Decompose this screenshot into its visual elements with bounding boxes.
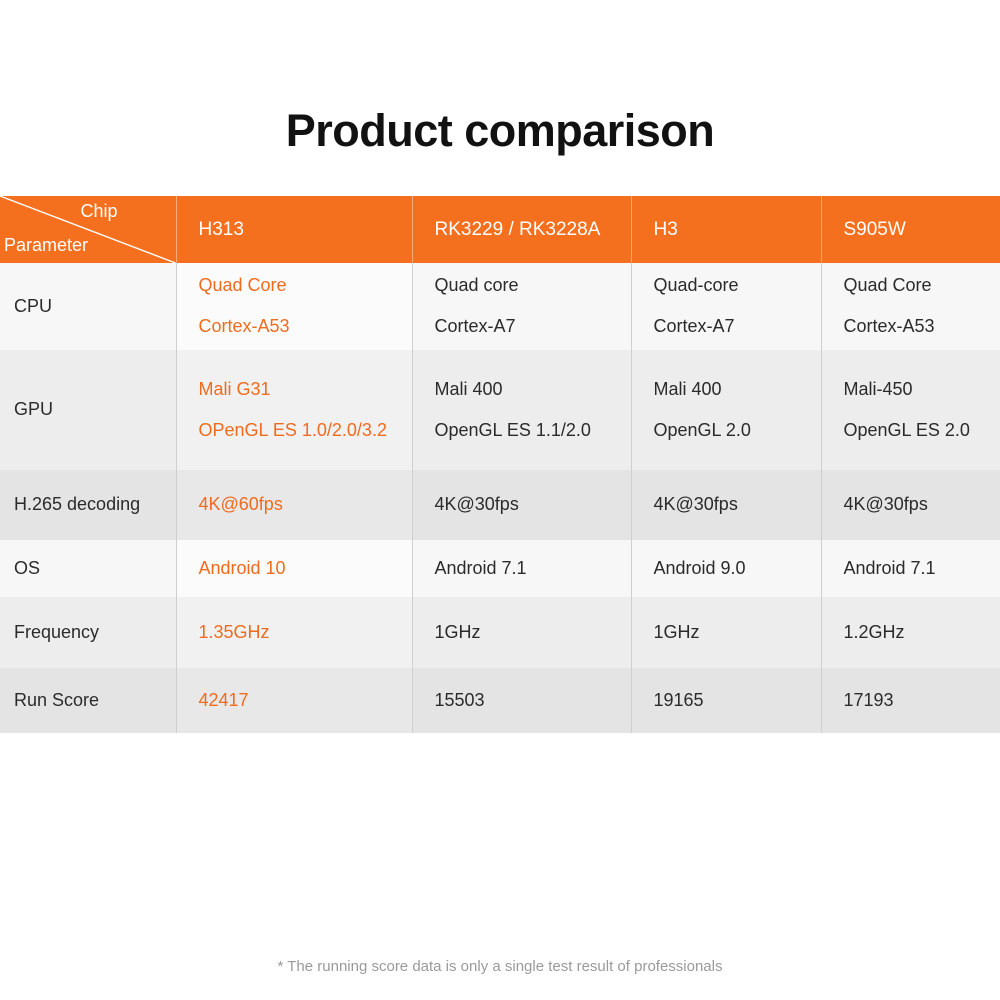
row-label-frequency: Frequency <box>0 597 176 668</box>
cell-line: Mali-450 <box>844 376 1000 404</box>
cell-line: 42417 <box>199 687 412 715</box>
table-row: Frequency 1.35GHz 1GHz 1GHz 1.2GHz <box>0 597 1000 668</box>
cell-os-s905w: Android 7.1 <box>821 540 1000 597</box>
cell-run-score-rk3229: 15503 <box>412 668 631 733</box>
cell-line: 4K@30fps <box>844 491 1000 519</box>
table-row: CPU Quad Core Cortex-A53 Quad core Corte… <box>0 263 1000 350</box>
cell-line: 1.35GHz <box>199 619 412 647</box>
header-chip-label: Chip <box>80 202 117 220</box>
cell-frequency-rk3229: 1GHz <box>412 597 631 668</box>
table-header-row: Chip Parameter H313 RK3229 / RK3228A H3 … <box>0 196 1000 263</box>
cell-h265-h3: 4K@30fps <box>631 470 821 540</box>
table-row: Run Score 42417 15503 19165 17193 <box>0 668 1000 733</box>
cell-frequency-h3: 1GHz <box>631 597 821 668</box>
footnote-disclaimer: * The running score data is only a singl… <box>0 958 1000 975</box>
row-label-os: OS <box>0 540 176 597</box>
row-label-gpu: GPU <box>0 350 176 470</box>
table-row: GPU Mali G31 OPenGL ES 1.0/2.0/3.2 Mali … <box>0 350 1000 470</box>
table-row: H.265 decoding 4K@60fps 4K@30fps 4K@30fp… <box>0 470 1000 540</box>
cell-gpu-rk3229: Mali 400 OpenGL ES 1.1/2.0 <box>412 350 631 470</box>
cell-h265-h313: 4K@60fps <box>176 470 412 540</box>
column-header-h3: H3 <box>631 196 821 263</box>
cell-line: OpenGL ES 2.0 <box>844 417 1000 445</box>
cell-os-h313: Android 10 <box>176 540 412 597</box>
cell-line: Quad-core <box>654 272 821 300</box>
cell-line: OpenGL 2.0 <box>654 417 821 445</box>
cell-cpu-h3: Quad-core Cortex-A7 <box>631 263 821 350</box>
cell-line: OpenGL ES 1.1/2.0 <box>435 417 631 445</box>
cell-os-h3: Android 9.0 <box>631 540 821 597</box>
cell-line: Mali 400 <box>435 376 631 404</box>
cell-line: Cortex-A53 <box>844 313 1000 341</box>
cell-line: Mali G31 <box>199 376 412 404</box>
cell-gpu-h3: Mali 400 OpenGL 2.0 <box>631 350 821 470</box>
product-comparison-table: Chip Parameter H313 RK3229 / RK3228A H3 … <box>0 196 1000 733</box>
cell-line: Android 9.0 <box>654 555 821 583</box>
cell-line: 4K@30fps <box>435 491 631 519</box>
cell-run-score-h313: 42417 <box>176 668 412 733</box>
cell-line: Android 7.1 <box>844 555 1000 583</box>
cell-line: Quad Core <box>844 272 1000 300</box>
cell-line: 19165 <box>654 687 821 715</box>
cell-line: Mali 400 <box>654 376 821 404</box>
cell-h265-rk3229: 4K@30fps <box>412 470 631 540</box>
cell-line: 1GHz <box>654 619 821 647</box>
header-corner-cell: Chip Parameter <box>0 196 176 263</box>
cell-line: Quad core <box>435 272 631 300</box>
cell-line: Android 7.1 <box>435 555 631 583</box>
cell-line: Cortex-A7 <box>654 313 821 341</box>
cell-run-score-h3: 19165 <box>631 668 821 733</box>
cell-os-rk3229: Android 7.1 <box>412 540 631 597</box>
cell-gpu-h313: Mali G31 OPenGL ES 1.0/2.0/3.2 <box>176 350 412 470</box>
cell-frequency-h313: 1.35GHz <box>176 597 412 668</box>
column-header-rk3229: RK3229 / RK3228A <box>412 196 631 263</box>
column-header-h313: H313 <box>176 196 412 263</box>
cell-line: 4K@60fps <box>199 491 412 519</box>
cell-run-score-s905w: 17193 <box>821 668 1000 733</box>
cell-line: Android 10 <box>199 555 412 583</box>
table-row: OS Android 10 Android 7.1 Android 9.0 An… <box>0 540 1000 597</box>
cell-line: 17193 <box>844 687 1000 715</box>
cell-line: Cortex-A53 <box>199 313 412 341</box>
cell-h265-s905w: 4K@30fps <box>821 470 1000 540</box>
cell-line: 15503 <box>435 687 631 715</box>
cell-line: 1GHz <box>435 619 631 647</box>
cell-line: Quad Core <box>199 272 412 300</box>
cell-line: 1.2GHz <box>844 619 1000 647</box>
cell-cpu-rk3229: Quad core Cortex-A7 <box>412 263 631 350</box>
cell-line: OPenGL ES 1.0/2.0/3.2 <box>199 417 412 445</box>
column-header-s905w: S905W <box>821 196 1000 263</box>
cell-cpu-h313: Quad Core Cortex-A53 <box>176 263 412 350</box>
cell-frequency-s905w: 1.2GHz <box>821 597 1000 668</box>
header-parameter-label: Parameter <box>4 236 88 254</box>
row-label-h265-decoding: H.265 decoding <box>0 470 176 540</box>
cell-gpu-s905w: Mali-450 OpenGL ES 2.0 <box>821 350 1000 470</box>
row-label-run-score: Run Score <box>0 668 176 733</box>
cell-cpu-s905w: Quad Core Cortex-A53 <box>821 263 1000 350</box>
cell-line: 4K@30fps <box>654 491 821 519</box>
cell-line: Cortex-A7 <box>435 313 631 341</box>
page-title: Product comparison <box>0 108 1000 153</box>
row-label-cpu: CPU <box>0 263 176 350</box>
